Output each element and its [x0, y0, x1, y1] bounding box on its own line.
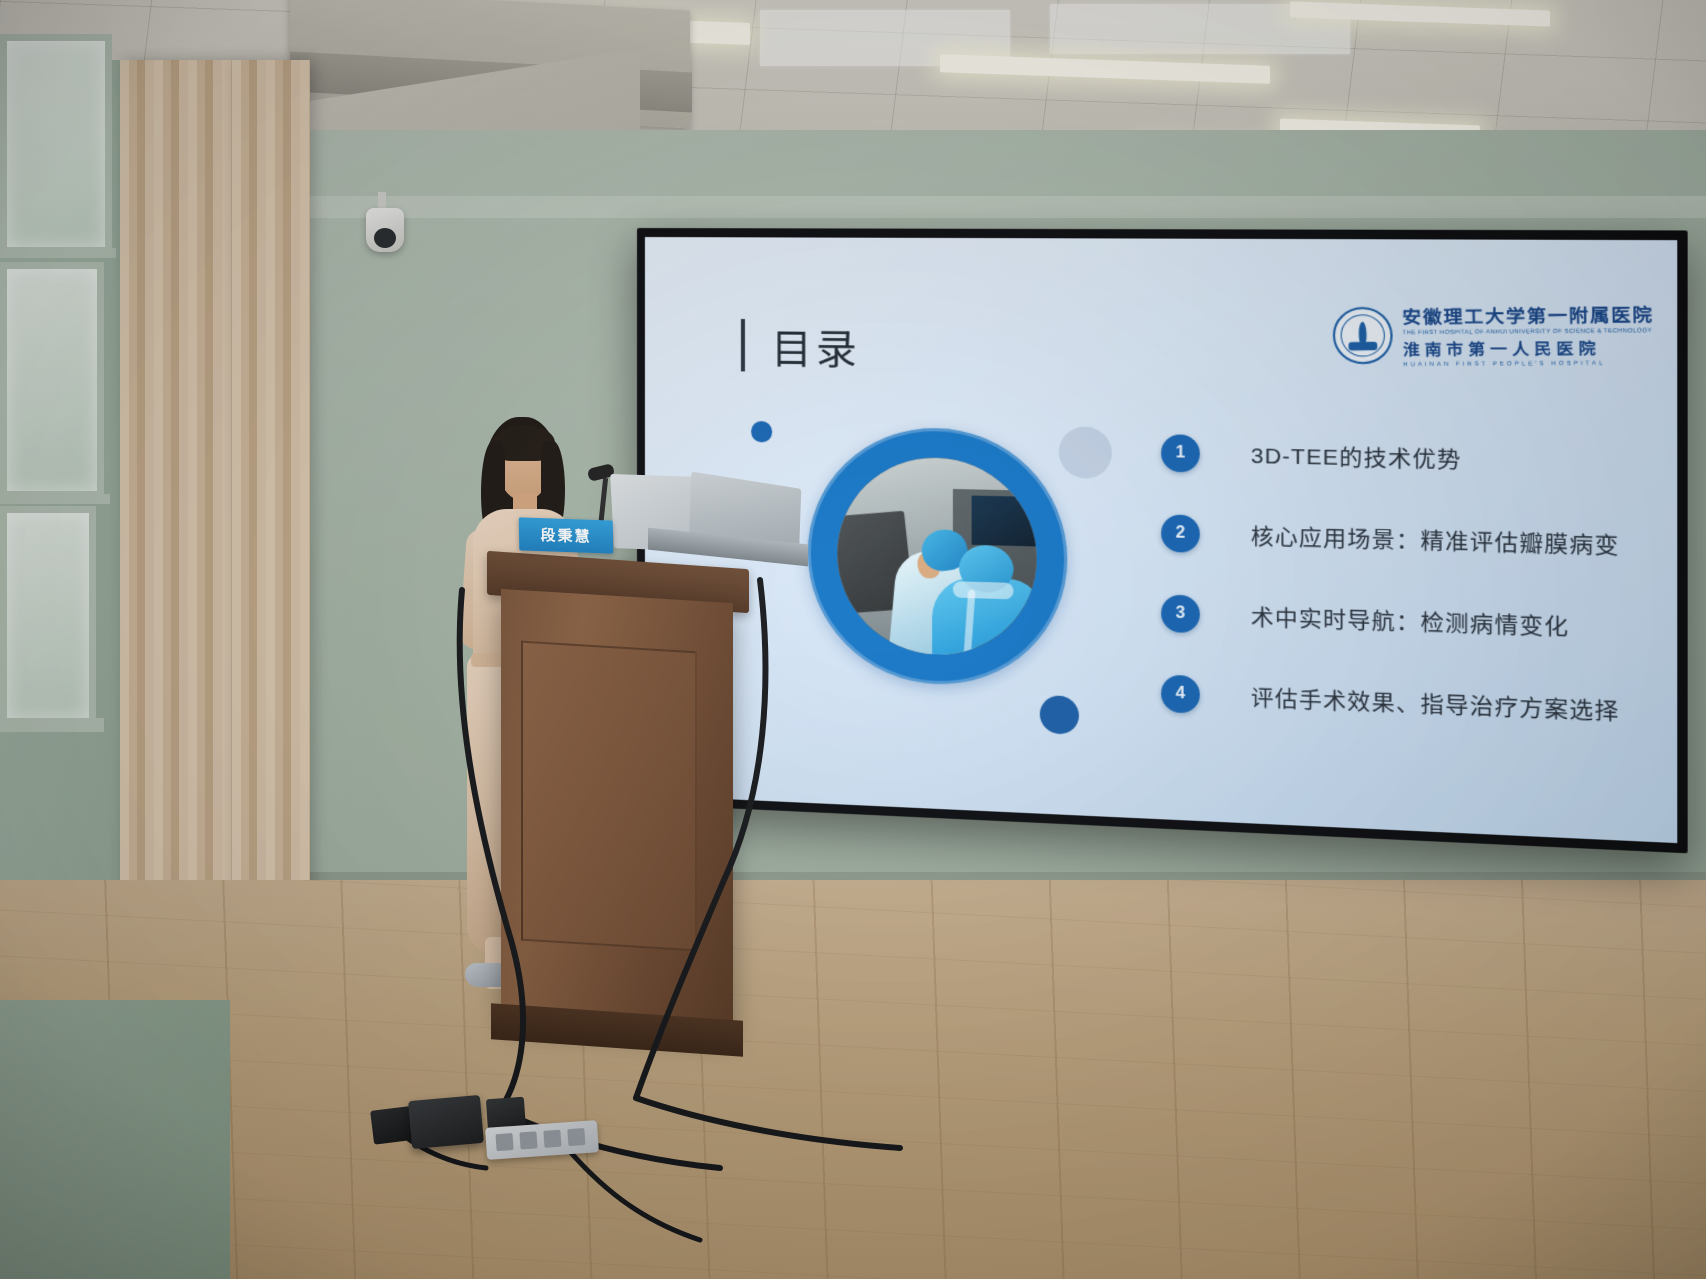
window-upper [0, 34, 112, 254]
decorative-dot-small [751, 421, 772, 443]
conference-room-scene: 目录 安徽理工大学第一附属医院 THE FIRST HOSPITAL OF AN… [0, 0, 1706, 1279]
hospital-name-cn-primary: 安徽理工大学第一附属医院 [1402, 300, 1654, 329]
circular-photo-ring [808, 426, 1068, 689]
security-camera-icon [366, 208, 404, 252]
decorative-dot-light [1059, 426, 1112, 479]
agenda-item-1[interactable]: 1 3D-TEE的技术优势 [1161, 412, 1651, 503]
lectern-front-panel [521, 641, 697, 952]
photo-background [837, 456, 1036, 658]
floor-device-primary[interactable] [408, 1095, 484, 1149]
lectern [487, 560, 749, 1055]
window-mullion [0, 494, 110, 504]
floor-left-wall [0, 1000, 230, 1279]
seal-base-shape [1348, 342, 1377, 351]
wall-trim [210, 196, 1706, 218]
agenda-number-badge: 2 [1161, 514, 1200, 552]
agenda-item-label: 评估手术效果、指导治疗方案选择 [1251, 680, 1620, 725]
hospital-name-en-primary: THE FIRST HOSPITAL OF ANHUI UNIVERSITY O… [1403, 328, 1655, 337]
floor-plank-lines [0, 880, 1706, 1279]
agenda-item-4[interactable]: 4 评估手术效果、指导治疗方案选择 [1161, 653, 1651, 753]
curtain-panel-right [232, 60, 310, 960]
operating-room-photo [837, 456, 1036, 658]
presenter-name: 段秉慧 [540, 524, 591, 547]
window-lower [0, 506, 96, 726]
slide-canvas: 目录 安徽理工大学第一附属医院 THE FIRST HOSPITAL OF AN… [645, 237, 1677, 843]
clinician-two-gown [932, 576, 1037, 657]
clinician-one-cap [918, 527, 970, 574]
agenda-number-badge: 4 [1161, 674, 1200, 713]
power-socket[interactable] [495, 1133, 513, 1151]
floor [0, 880, 1706, 1279]
power-socket[interactable] [567, 1128, 585, 1146]
agenda-item-label: 核心应用场景：精准评估瓣膜病变 [1251, 519, 1620, 560]
title-accent-bar [741, 319, 745, 371]
curtain-panel-left [120, 60, 232, 990]
slide-title-group: 目录 [741, 316, 861, 376]
hospital-name-en-secondary: HUAINAN FIRST PEOPLE'S HOSPITAL [1403, 360, 1655, 368]
agenda-number-badge: 3 [1161, 594, 1200, 633]
power-socket[interactable] [519, 1131, 537, 1149]
agenda-item-2[interactable]: 2 核心应用场景：精准评估瓣膜病变 [1161, 492, 1651, 586]
hospital-name-cn-secondary: 淮南市第一人民医院 [1403, 336, 1655, 360]
hospital-logo: 安徽理工大学第一附属医院 THE FIRST HOSPITAL OF ANHUI… [1332, 300, 1655, 369]
agenda-number-badge: 1 [1161, 434, 1200, 472]
display-monitor [837, 511, 914, 614]
ultrasound-screen [972, 496, 1037, 547]
window-middle [0, 262, 104, 498]
decorative-dot-dark [1040, 695, 1079, 735]
page-title: 目录 [771, 316, 861, 376]
hospital-seal-icon [1332, 307, 1393, 365]
gown-stripe [963, 590, 976, 658]
power-socket[interactable] [543, 1130, 561, 1148]
window-sill [0, 718, 104, 732]
clinician-one-face [916, 551, 942, 580]
agenda-item-label: 术中实时导航：检测病情变化 [1251, 600, 1569, 642]
clinician-one-body [888, 548, 983, 658]
clinician-two-cap [959, 544, 1013, 593]
ultrasound-controls [965, 600, 1036, 650]
presenter-nameplate: 段秉慧 [519, 517, 614, 553]
hospital-logo-text: 安徽理工大学第一附属医院 THE FIRST HOSPITAL OF ANHUI… [1402, 300, 1655, 368]
agenda-list: 1 3D-TEE的技术优势 2 核心应用场景：精准评估瓣膜病变 3 术中实时导航… [1161, 412, 1651, 752]
ultrasound-console [953, 489, 1037, 658]
agenda-item-label: 3D-TEE的技术优势 [1251, 438, 1462, 474]
window-mullion [0, 248, 116, 258]
clinician-two-collar [953, 581, 1014, 599]
